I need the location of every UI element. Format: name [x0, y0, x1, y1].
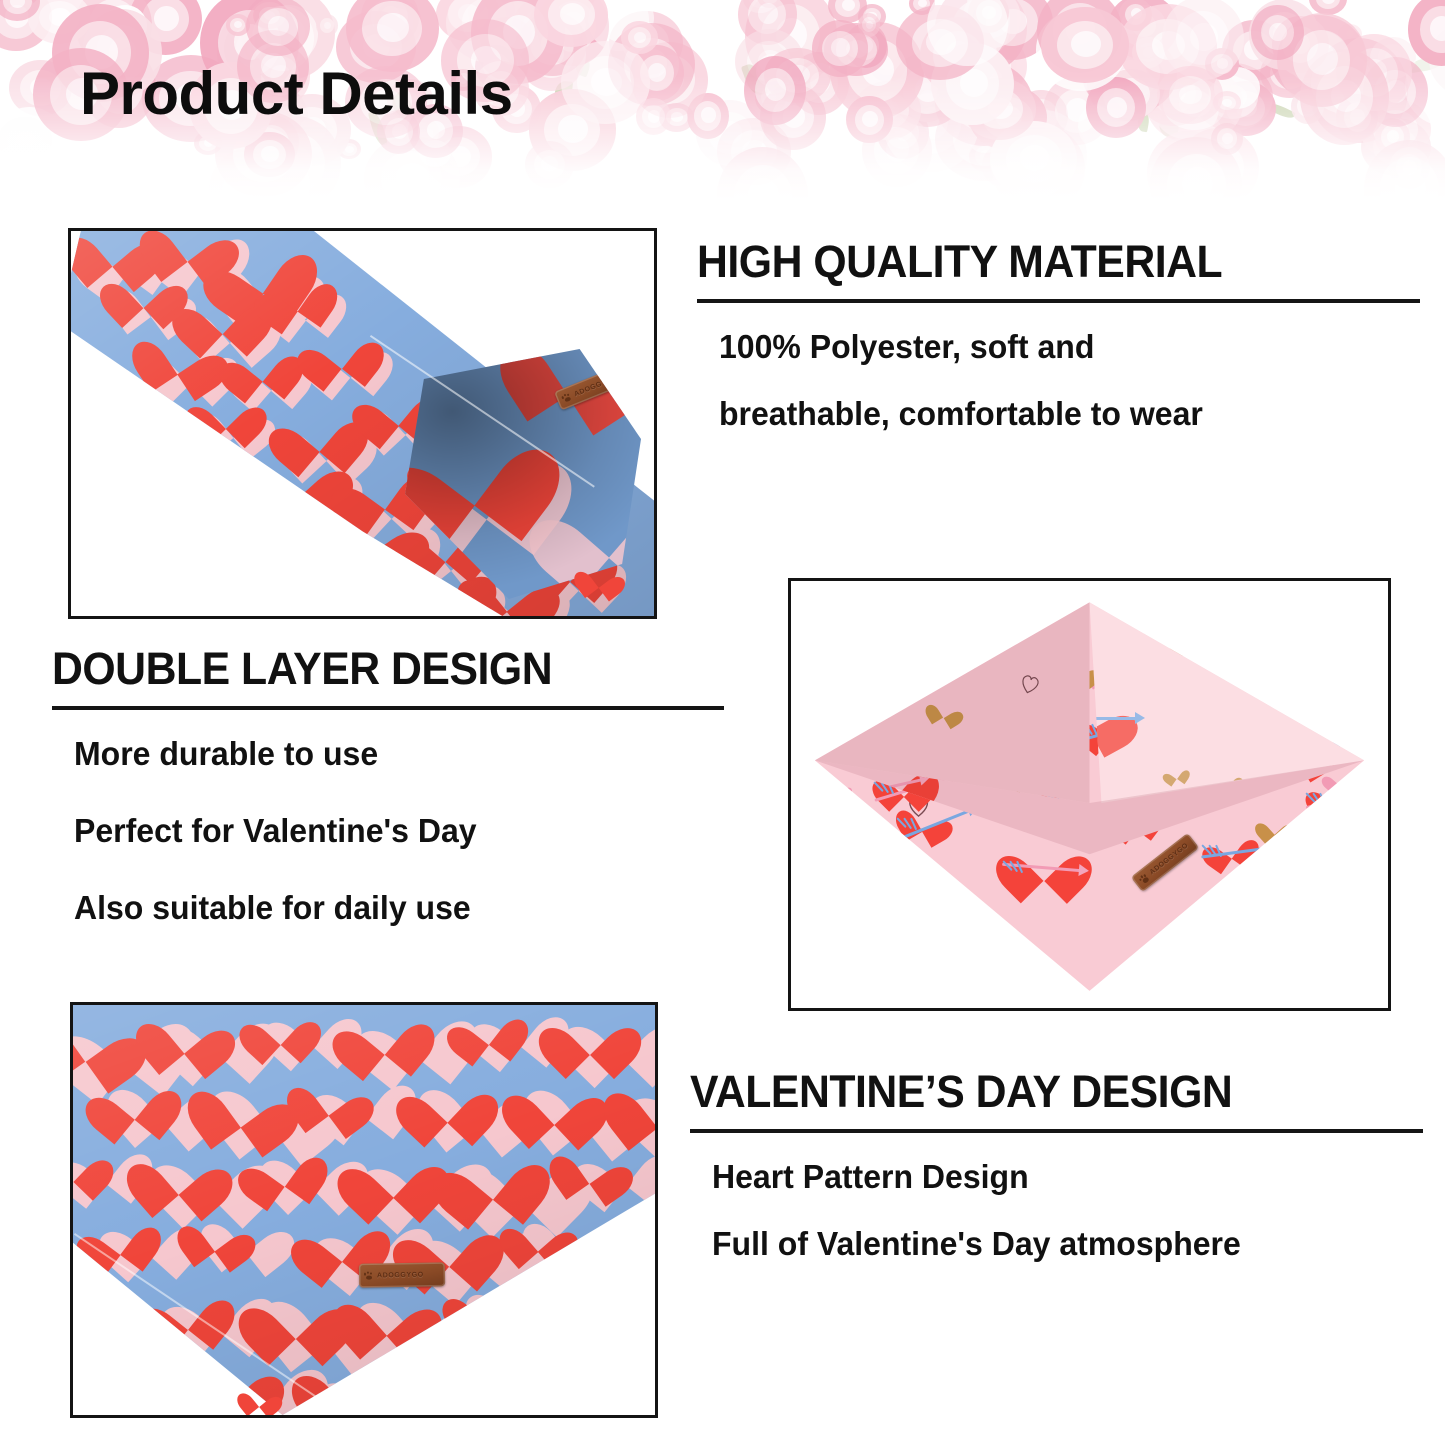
floral-bloom — [226, 14, 250, 36]
floral-bloom — [1082, 34, 1177, 113]
floral-bloom — [103, 5, 148, 47]
floral-bloom — [1086, 77, 1146, 138]
heart-shape — [1288, 842, 1306, 859]
feature-block-double-layer-design: DOUBLE LAYER DESIGN More durable to use … — [52, 645, 724, 967]
heart-shape — [558, 1281, 639, 1356]
floral-bloom — [0, 0, 52, 51]
cupid-arrow — [1367, 725, 1388, 753]
heart-shape — [608, 1349, 655, 1415]
floral-bloom — [931, 43, 1014, 126]
feature-heading-material: HIGH QUALITY MATERIAL — [697, 238, 1384, 285]
heading-rule-material — [697, 299, 1420, 303]
floral-bloom — [830, 22, 925, 119]
heart-shape — [1290, 630, 1365, 701]
arrow-fletching — [1359, 669, 1369, 680]
heart-shape — [144, 321, 219, 392]
floral-bloom — [904, 75, 950, 122]
floral-bloom — [1142, 37, 1182, 77]
arrow-fletching — [1056, 991, 1063, 1004]
heart-shape — [1347, 581, 1383, 615]
feature-lines-material: 100% Polyester, soft and breathable, com… — [697, 329, 1420, 433]
floral-bloom — [969, 85, 1047, 150]
arrow-fletching — [1224, 638, 1231, 651]
heart-shape — [898, 617, 926, 643]
heart-shape — [635, 1345, 655, 1415]
arrow-fletching — [1309, 694, 1318, 706]
floral-bloom — [853, 10, 906, 65]
floral-bloom — [374, 0, 422, 49]
floral-bloom — [920, 17, 998, 94]
arrow-fletching — [1042, 991, 1052, 1002]
heart-shape — [1340, 983, 1367, 1008]
floral-bloom — [630, 45, 684, 101]
floral-bloom — [446, 0, 537, 63]
heart-shape — [643, 1205, 655, 1284]
product-photo-blue-folded: ADOGGYGO — [68, 228, 657, 619]
arrow-fletching — [1366, 732, 1376, 743]
cupid-arrow — [1294, 993, 1370, 1008]
heart-shape — [1339, 675, 1388, 729]
floral-bloom — [1360, 99, 1431, 160]
floral-bloom — [361, 0, 419, 47]
arrow-fletching — [1293, 996, 1303, 1007]
arrow-fletching — [1316, 694, 1323, 707]
heart-shape — [817, 702, 840, 724]
heart-shape — [805, 893, 825, 912]
feature-line: Also suitable for daily use — [74, 890, 705, 927]
floral-bloom — [1336, 94, 1378, 140]
floral-bloom — [858, 4, 885, 29]
floral-bloom — [1132, 37, 1165, 68]
floral-bloom — [846, 96, 892, 143]
floral-bloom — [992, 124, 1084, 200]
heart-shape — [1374, 744, 1388, 770]
floral-bloom — [990, 121, 1078, 197]
floral-bloom — [1211, 123, 1243, 155]
floral-bloom — [631, 42, 708, 118]
arrow-fletching — [1379, 732, 1386, 745]
floral-bloom — [745, 0, 837, 87]
arrow-fletching — [888, 647, 897, 659]
heart-shape — [834, 780, 851, 796]
heart-shape — [1314, 604, 1334, 623]
floral-bloom — [209, 148, 291, 200]
outlined-heart — [814, 668, 840, 694]
heart-shape — [892, 971, 918, 995]
paw-print-icon — [1138, 872, 1151, 885]
floral-bloom — [426, 126, 492, 187]
arrow-fletching — [1302, 694, 1312, 705]
floral-bloom — [1249, 0, 1319, 70]
heart-shape — [1364, 642, 1388, 703]
floral-bloom — [789, 52, 849, 115]
heart-shape — [902, 978, 927, 1002]
floral-bloom — [869, 46, 906, 82]
heart-shape — [1189, 968, 1215, 993]
floral-bloom — [756, 57, 783, 86]
floral-bloom — [927, 0, 1008, 66]
floral-bloom — [529, 89, 616, 170]
floral-bloom — [1036, 9, 1127, 91]
floral-bloom — [890, 52, 965, 127]
floral-bloom — [760, 84, 826, 149]
heart-shape — [841, 831, 865, 854]
floral-bloom — [1363, 57, 1428, 126]
floral-bloom — [249, 116, 341, 200]
floral-bloom — [518, 12, 587, 77]
feature-block-valentines-day-design: VALENTINE’S DAY DESIGN Heart Pattern Des… — [690, 1068, 1423, 1263]
floral-bloom — [28, 0, 91, 44]
floral-bloom — [468, 0, 515, 38]
floral-bloom — [597, 0, 654, 43]
floral-bloom — [968, 0, 1009, 33]
floral-bloom — [1014, 90, 1067, 142]
floral-bloom — [735, 29, 804, 94]
floral-bloom — [534, 0, 608, 47]
outlined-heart — [816, 889, 840, 913]
heart-shape — [1321, 898, 1335, 911]
cupid-arrow — [883, 639, 966, 670]
heart-shape — [1152, 985, 1230, 1008]
floral-bloom — [854, 81, 921, 140]
photo-canvas-blue-folded: ADOGGYGO — [71, 231, 654, 616]
heart-shape — [1310, 676, 1356, 719]
floral-bloom — [969, 140, 1001, 171]
floral-leaf — [740, 61, 767, 98]
bandana-fabric-flat — [73, 1005, 655, 1415]
floral-bloom — [1429, 20, 1445, 99]
heart-shape — [1344, 847, 1367, 869]
floral-bloom — [253, 2, 286, 29]
heart-shape — [1257, 612, 1288, 641]
floral-bloom — [529, 0, 605, 64]
floral-leaf — [554, 80, 573, 103]
heart-shape — [92, 1351, 158, 1412]
floral-bloom — [982, 143, 1030, 188]
floral-leaf — [1133, 23, 1167, 43]
fabric-shading — [73, 1005, 655, 1415]
heart-shape — [799, 652, 852, 701]
floral-bloom — [194, 131, 222, 155]
floral-bloom — [935, 97, 1034, 181]
floral-bloom — [1336, 34, 1412, 111]
floral-bloom — [896, 5, 984, 80]
floral-bloom — [480, 17, 533, 61]
floral-bloom — [1150, 137, 1242, 200]
floral-bloom — [561, 41, 650, 124]
feature-line: breathable, comfortable to wear — [719, 396, 1399, 433]
heart-shape — [967, 912, 1002, 945]
floral-bloom — [1162, 0, 1244, 80]
heart-shape — [932, 618, 953, 637]
arrow-fletching — [1286, 663, 1296, 674]
feature-lines-double-layer: More durable to use Perfect for Valentin… — [52, 736, 724, 927]
heart-shape — [1233, 941, 1254, 961]
cupid-arrow — [1331, 702, 1388, 708]
floral-bloom — [828, 0, 867, 23]
floral-bloom — [1037, 0, 1122, 73]
heart-shape — [839, 643, 865, 668]
floral-bloom — [0, 140, 74, 200]
heart-shape — [1265, 620, 1288, 642]
floral-bloom — [1251, 5, 1303, 60]
arrow-fletching — [1063, 602, 1072, 614]
floral-bloom — [1389, 147, 1430, 189]
bandana-main-diamond — [791, 581, 1388, 1008]
floral-bloom — [1215, 81, 1276, 137]
paw-print-icon — [561, 392, 573, 404]
floral-bloom — [1277, 13, 1367, 106]
floral-bloom — [858, 13, 880, 37]
floral-bloom — [436, 0, 500, 41]
heart-shape — [116, 1343, 198, 1415]
heart-shape — [1173, 994, 1219, 1008]
floral-bloom — [129, 0, 202, 55]
heart-shape — [1305, 610, 1380, 682]
floral-bloom — [1001, 110, 1087, 200]
floral-bloom — [1364, 140, 1445, 200]
arrow-fletching — [900, 878, 909, 890]
heart-shape — [114, 264, 175, 320]
heart-shape — [580, 1271, 655, 1368]
heart-shape — [1346, 908, 1365, 926]
floral-bloom — [1213, 91, 1241, 114]
outlined-heart — [861, 647, 883, 669]
heart-shape — [903, 615, 926, 637]
floral-bloom — [1157, 66, 1223, 124]
heart-shape — [541, 603, 617, 616]
heart-shape — [1199, 921, 1215, 936]
arrow-fletching — [1373, 669, 1380, 682]
product-photo-pink-diamond: ADOGGYGO — [788, 578, 1391, 1011]
floral-leaf — [1157, 114, 1182, 139]
floral-leaf — [1340, 54, 1371, 75]
heart-shape — [803, 662, 833, 690]
outlined-heart — [1327, 673, 1353, 699]
floral-bloom — [242, 148, 310, 200]
floral-bloom — [687, 93, 730, 139]
heart-shape — [244, 1384, 277, 1415]
floral-bloom — [1309, 0, 1348, 15]
floral-bloom — [1146, 64, 1244, 144]
floral-bloom — [909, 0, 936, 15]
arrow-fletching — [964, 634, 974, 645]
floral-bloom — [824, 23, 888, 76]
heart-shape — [199, 389, 254, 439]
floral-bloom — [1214, 67, 1260, 109]
heart-shape — [1321, 976, 1348, 1002]
floral-bloom — [845, 23, 887, 68]
outlined-heart — [1000, 619, 1019, 638]
arrow-fletching — [1056, 602, 1066, 613]
arrow-fletching — [1371, 879, 1381, 890]
arrow-fletching — [1303, 643, 1313, 654]
arrow-fletching — [796, 673, 805, 685]
floral-bloom — [1153, 76, 1219, 140]
arrow-fletching — [1317, 644, 1324, 657]
cupid-arrow — [1370, 880, 1388, 892]
heart-shape — [1191, 626, 1226, 659]
arrow-fletching — [881, 647, 891, 658]
arrow-fletching — [791, 673, 800, 684]
floral-bloom — [512, 0, 568, 59]
floral-bloom — [812, 20, 868, 76]
heart-shape — [959, 960, 996, 995]
brand-name: ADOGGYGO — [377, 1271, 424, 1279]
heart-shape — [1261, 815, 1289, 841]
cupid-arrow — [1305, 637, 1363, 664]
floral-bloom — [0, 117, 52, 163]
photo-canvas-pink-diamond: ADOGGYGO — [791, 581, 1388, 1008]
floral-bloom — [364, 136, 460, 200]
floral-bloom — [1119, 0, 1152, 31]
arrow-fletching — [978, 634, 985, 647]
floral-bloom — [717, 147, 808, 200]
floral-bloom — [1375, 118, 1410, 157]
heading-rule-double-layer — [52, 706, 724, 710]
arrow-fletching — [1217, 638, 1226, 650]
floral-bloom — [738, 0, 797, 45]
floral-bloom — [1280, 34, 1321, 76]
cupid-arrow — [1304, 687, 1365, 715]
arrow-fletching — [1345, 698, 1352, 711]
feature-block-high-quality-material: HIGH QUALITY MATERIAL 100% Polyester, so… — [697, 238, 1420, 433]
floral-bloom — [1193, 63, 1273, 130]
arrow-fletching — [907, 879, 914, 892]
floral-bloom — [1270, 15, 1367, 101]
heart-shape — [1376, 859, 1388, 907]
floral-leaf — [948, 31, 987, 53]
floral-bloom — [0, 0, 40, 21]
floral-bloom — [1078, 104, 1120, 149]
outlined-heart — [1311, 931, 1338, 958]
floral-bloom — [696, 100, 764, 165]
heart-shape — [425, 1345, 505, 1415]
floral-bloom — [1205, 48, 1239, 80]
floral-bloom — [972, 0, 1053, 60]
floral-bloom — [757, 0, 782, 8]
floral-leaf — [572, 55, 592, 78]
floral-bloom — [1260, 49, 1319, 98]
floral-bloom — [1370, 37, 1416, 79]
cupid-arrow — [791, 677, 850, 684]
feature-line: Heart Pattern Design — [712, 1159, 1402, 1196]
heart-shape — [73, 1281, 98, 1341]
heart-shape — [1371, 712, 1388, 760]
floral-leaf — [1136, 110, 1150, 132]
floral-bloom — [743, 0, 776, 13]
floral-bloom — [764, 48, 831, 103]
floral-bloom — [636, 98, 671, 135]
feature-line: Full of Valentine's Day atmosphere — [712, 1226, 1402, 1263]
floral-bloom — [316, 14, 338, 37]
floral-bloom — [517, 17, 586, 91]
heart-shape — [1300, 981, 1342, 1008]
floral-bloom — [1041, 7, 1130, 83]
floral-bloom — [717, 118, 790, 185]
heading-rule-valentine — [690, 1129, 1423, 1133]
floral-bloom — [246, 0, 309, 56]
floral-bloom — [1147, 131, 1229, 200]
arrow-fletching — [1210, 637, 1220, 648]
feature-line: More durable to use — [74, 736, 705, 773]
floral-bloom — [862, 114, 932, 187]
floral-bloom — [1272, 16, 1329, 74]
floral-bloom — [419, 140, 451, 167]
floral-bloom — [621, 21, 657, 54]
floral-bloom — [588, 0, 650, 51]
floral-bloom — [744, 56, 806, 125]
floral-bloom — [963, 78, 1036, 141]
heart-shape — [230, 338, 291, 395]
floral-leaf — [1266, 100, 1296, 121]
outlined-heart — [805, 588, 832, 615]
floral-bloom — [1043, 76, 1111, 145]
floral-bloom — [608, 23, 695, 106]
floral-bloom — [1405, 47, 1445, 125]
feature-heading-valentine: VALENTINE’S DAY DESIGN — [690, 1068, 1386, 1115]
arrow-fletching — [1293, 663, 1302, 675]
floral-bloom — [938, 28, 1027, 104]
arrow-fletching — [1372, 732, 1381, 744]
floral-bloom — [609, 11, 683, 76]
heart-shape — [615, 1208, 655, 1280]
floral-bloom — [1309, 38, 1408, 143]
floral-bloom — [1103, 69, 1160, 119]
arrow-fletching — [803, 674, 810, 687]
floral-bloom — [1222, 20, 1286, 81]
floral-bloom — [967, 0, 991, 11]
floral-bloom — [1338, 24, 1362, 44]
floral-bloom — [574, 0, 599, 9]
arrow-fletching — [1366, 669, 1375, 681]
heart-shape — [261, 443, 337, 513]
floral-bloom — [9, 60, 72, 117]
floral-bloom — [564, 22, 621, 83]
product-details-page: Product Details ADOGGYGO ADOGGYGO ADOGGY… — [0, 0, 1445, 1445]
floral-bloom — [757, 54, 788, 84]
floral-bloom — [978, 64, 1008, 90]
product-photo-blue-flat: ADOGGYGO — [70, 1002, 658, 1418]
floral-bloom — [940, 15, 1015, 92]
heart-shape — [949, 640, 977, 666]
floral-bloom — [337, 139, 361, 159]
heart-shape — [308, 324, 371, 383]
floral-leaf — [533, 36, 566, 64]
heart-shape — [889, 627, 940, 674]
cupid-arrow — [1286, 661, 1370, 679]
floral-bloom — [877, 107, 929, 159]
photo-canvas-blue-flat: ADOGGYGO — [73, 1005, 655, 1415]
floral-bloom — [659, 103, 693, 132]
heart-shape — [1219, 620, 1265, 663]
arrow-fletching — [971, 634, 980, 646]
floral-leaf — [1409, 55, 1444, 73]
arrow-fletching — [1307, 997, 1314, 1008]
feature-lines-valentine: Heart Pattern Design Full of Valentine's… — [690, 1159, 1423, 1263]
floral-bloom — [1291, 89, 1324, 124]
outlined-heart — [1229, 867, 1258, 896]
floral-bloom — [1311, 52, 1373, 113]
floral-bloom — [963, 0, 1021, 48]
feature-line: Perfect for Valentine's Day — [74, 813, 705, 850]
floral-bloom — [1300, 49, 1389, 145]
arrow-fletching — [1049, 991, 1058, 1003]
floral-bloom — [525, 141, 574, 188]
cupid-arrow — [1042, 993, 1112, 1002]
floral-bloom — [0, 107, 68, 188]
floral-bloom — [935, 61, 1033, 146]
